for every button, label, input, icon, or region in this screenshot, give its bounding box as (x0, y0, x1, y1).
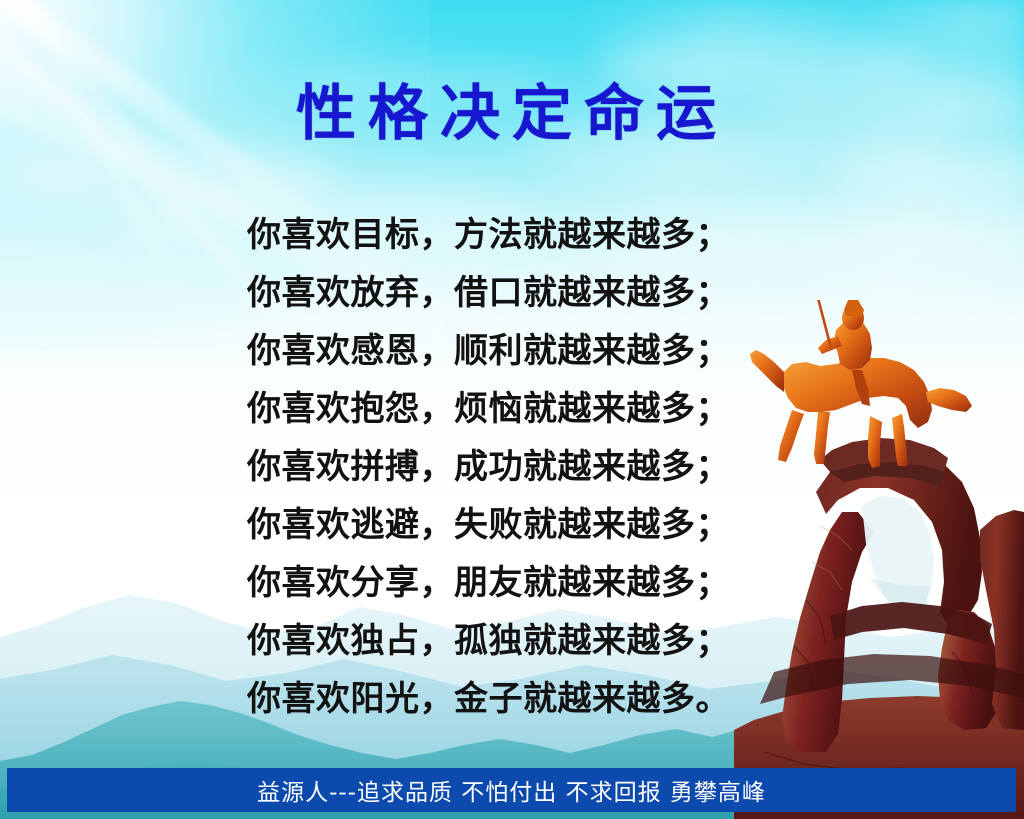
verse-line: 你喜欢感恩，顺利就越来越多； (247, 322, 807, 380)
verse-line: 你喜欢目标，方法就越来越多； (247, 206, 807, 264)
verse-line: 你喜欢抱怨，烦恼就越来越多； (247, 380, 807, 438)
poster-canvas: 性格决定命运 你喜欢目标，方法就越来越多； 你喜欢放弃，借口就越来越多； 你喜欢… (0, 0, 1024, 819)
verse-line: 你喜欢放弃，借口就越来越多； (247, 264, 807, 322)
footer-slogan: 益源人---追求品质 不怕付出 不求回报 勇攀高峰 (257, 773, 766, 807)
verse-line: 你喜欢阳光，金子就越来越多。 (247, 670, 807, 728)
footer-banner: 益源人---追求品质 不怕付出 不求回报 勇攀高峰 (7, 768, 1016, 812)
page-title: 性格决定命运 (0, 84, 1024, 144)
verse-line: 你喜欢独占，孤独就越来越多； (247, 612, 807, 670)
verse-block: 你喜欢目标，方法就越来越多； 你喜欢放弃，借口就越来越多； 你喜欢感恩，顺利就越… (247, 206, 807, 728)
verse-line: 你喜欢分享，朋友就越来越多； (247, 554, 807, 612)
verse-line: 你喜欢逃避，失败就越来越多； (247, 496, 807, 554)
verse-line: 你喜欢拼搏，成功就越来越多； (247, 438, 807, 496)
